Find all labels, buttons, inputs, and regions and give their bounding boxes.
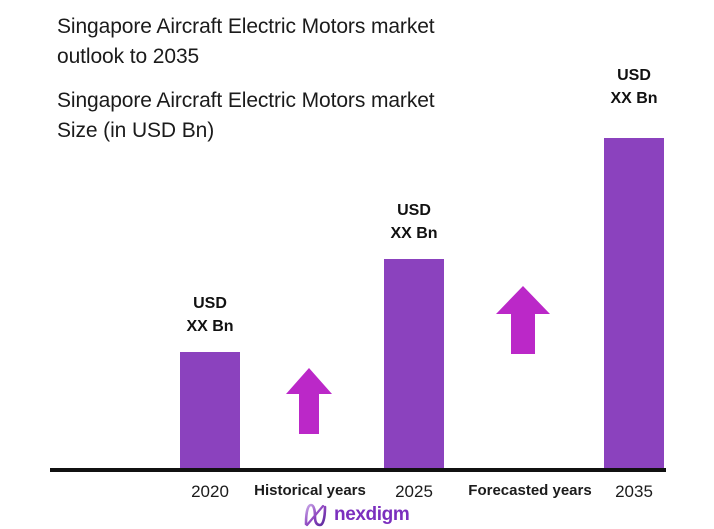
x-axis-line <box>50 468 666 472</box>
bar-2025[interactable] <box>384 259 444 469</box>
bar-label-2035-line-1: USD <box>574 64 694 87</box>
nexdigm-wordmark: nexdigm <box>334 504 409 526</box>
bar-label-2035-line-2: XX Bn <box>574 87 694 110</box>
nexdigm-n-mark-icon <box>303 503 329 527</box>
x-tick-2025: 2025 <box>364 482 464 502</box>
chart-canvas: Singapore Aircraft Electric Motors marke… <box>0 0 714 529</box>
bar-label-2020-line-2: XX Bn <box>150 315 270 338</box>
bar-label-2020: USD XX Bn <box>150 292 270 338</box>
bar-chart-plot: USD XX Bn USD XX Bn USD XX Bn 2020 Histo… <box>0 0 714 529</box>
up-arrow-icon-forecasted <box>496 286 550 354</box>
up-arrow-icon-historical <box>286 368 332 434</box>
bar-label-2035: USD XX Bn <box>574 64 694 110</box>
bar-2020[interactable] <box>180 352 240 469</box>
bar-label-2025-line-2: XX Bn <box>354 222 474 245</box>
bar-2035[interactable] <box>604 138 664 469</box>
x-label-historical-years: Historical years <box>240 482 380 499</box>
bar-label-2025: USD XX Bn <box>354 199 474 245</box>
nexdigm-logo: nexdigm <box>303 503 409 527</box>
bar-label-2025-line-1: USD <box>354 199 474 222</box>
bar-label-2020-line-1: USD <box>150 292 270 315</box>
x-tick-2035: 2035 <box>584 482 684 502</box>
